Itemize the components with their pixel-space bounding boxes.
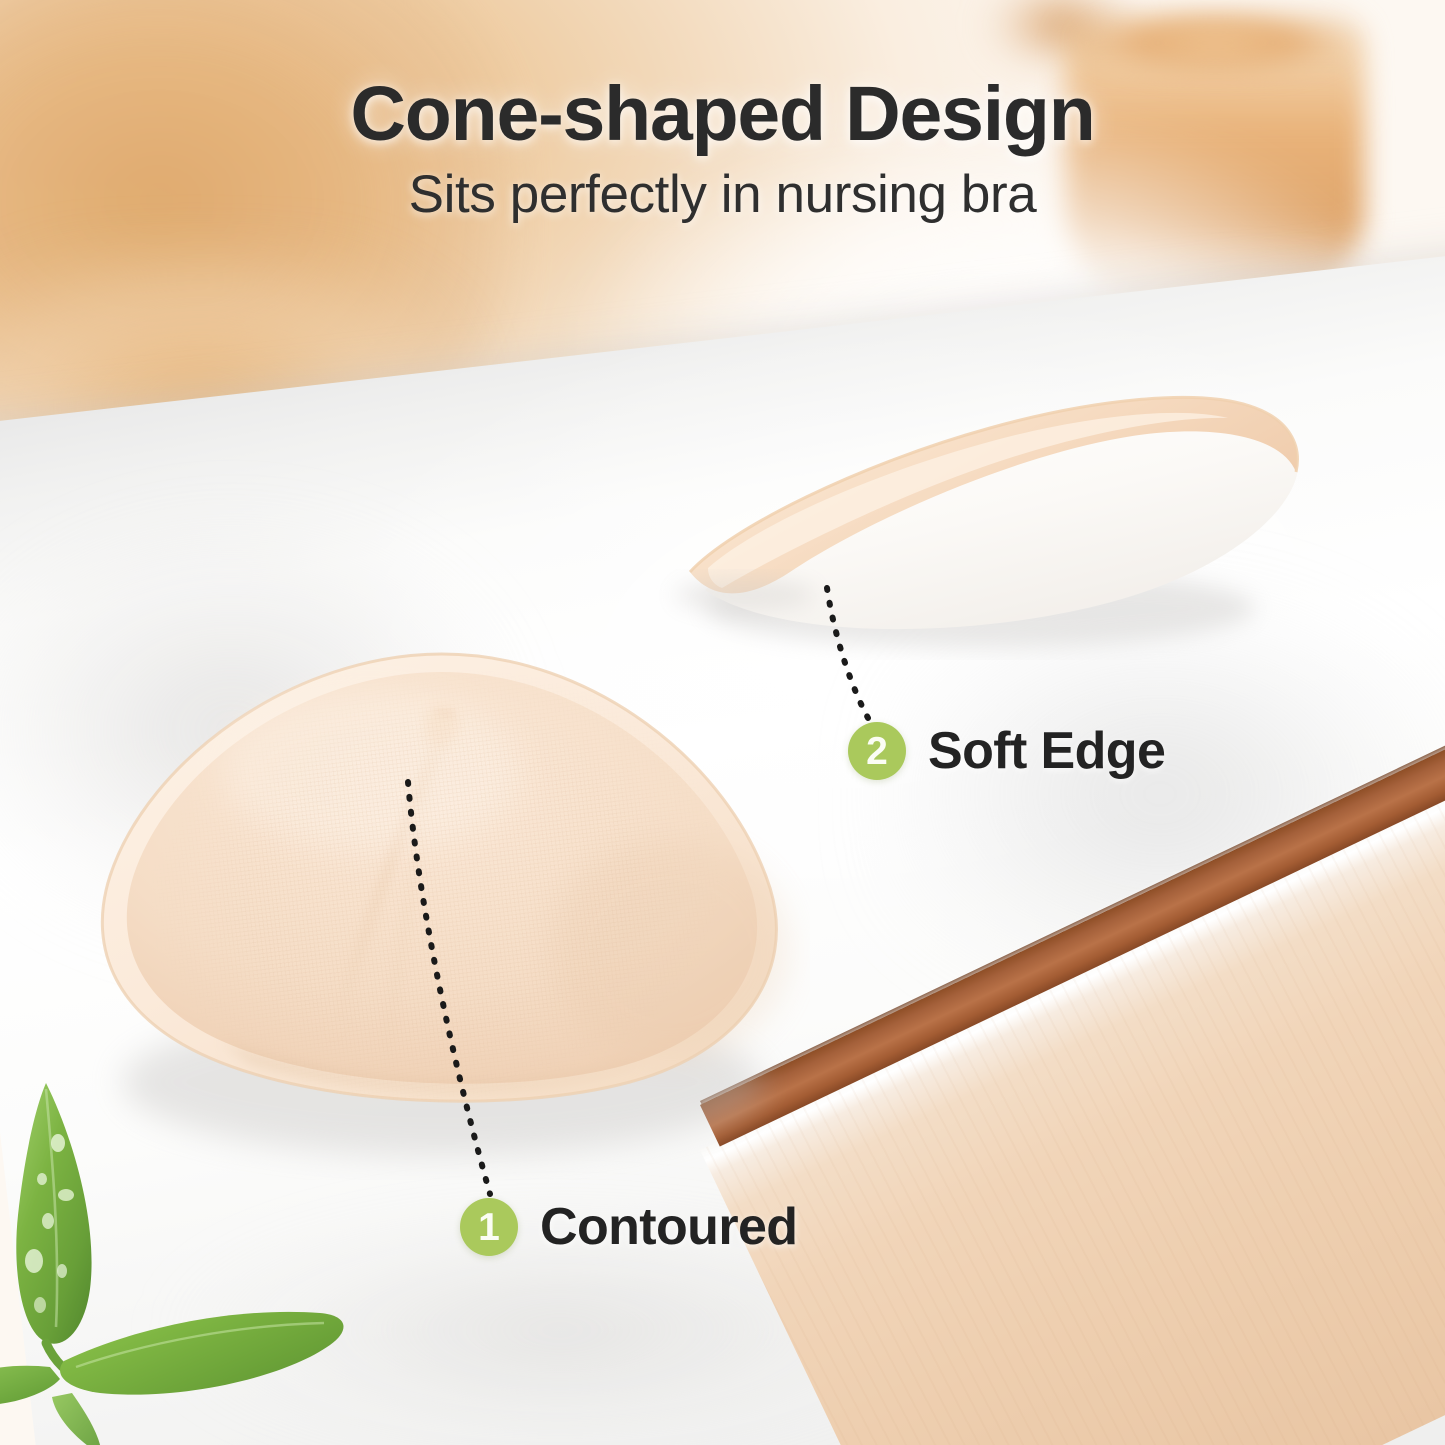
water-droplet [37,1173,47,1185]
bamboo-leaf-left [0,1366,60,1405]
callout-badge-2: 2 [848,722,906,780]
bamboo-leaf-bottom [52,1393,102,1445]
product-feature-image: Cone-shaped Design Sits perfectly in nur… [0,0,1445,1445]
callout-label-soft-edge: Soft Edge [928,721,1165,781]
page-subtitle: Sits perfectly in nursing bra [0,168,1445,221]
water-droplet [58,1189,74,1201]
callout-contoured: 1 Contoured [460,1197,797,1257]
cone-shade-right [550,840,790,1060]
callout-soft-edge: 2 Soft Edge [848,721,1165,781]
nursing-pad-side-profile [650,360,1330,660]
water-droplet [34,1297,46,1313]
water-droplet [57,1264,67,1278]
water-droplet [25,1249,43,1273]
callout-label-contoured: Contoured [540,1197,797,1257]
cone-highlight [220,690,520,850]
bamboo-leaf-upright [16,1083,91,1344]
water-droplet [42,1213,54,1229]
bamboo-leaves [0,1075,370,1445]
page-title: Cone-shaped Design [0,76,1445,153]
water-droplet [51,1134,65,1152]
callout-badge-1: 1 [460,1198,518,1256]
